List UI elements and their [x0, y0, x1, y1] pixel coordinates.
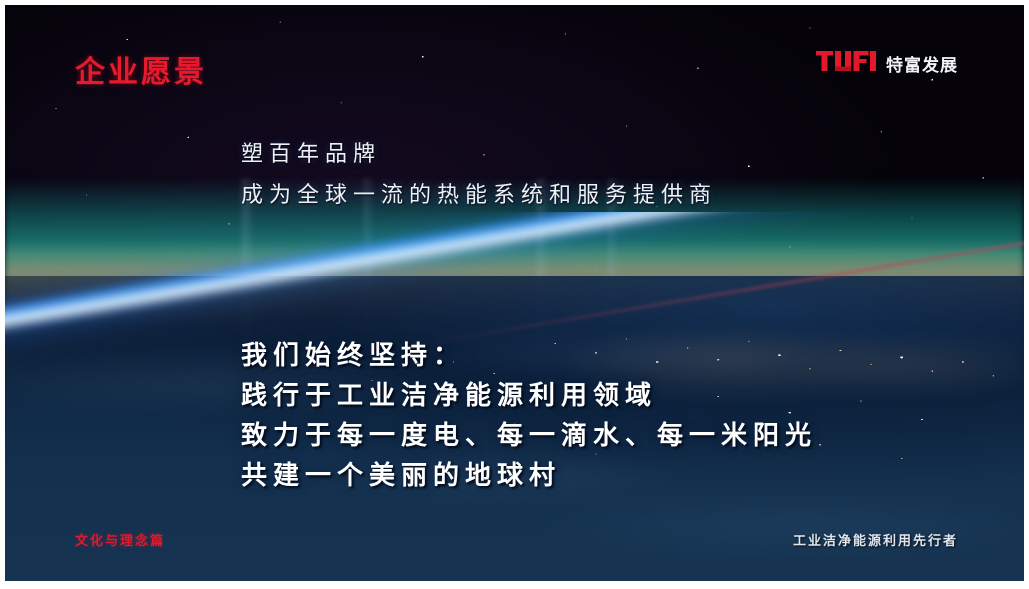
commitment-line-3: 致力于每一度电、每一滴水、每一米阳光 [241, 415, 817, 455]
commitment-line-4: 共建一个美丽的地球村 [241, 455, 817, 495]
tuff-logo-icon [816, 51, 876, 76]
commitment-line-2: 践行于工业洁净能源利用领域 [241, 375, 817, 415]
slide-content: 企业愿景 [5, 5, 1024, 581]
brand-name: 特富发展 [886, 51, 958, 76]
vision-line-2: 成为全球一流的热能系统和服务提供商 [241, 174, 717, 215]
commitment-statement: 我们始终坚持： 践行于工业洁净能源利用领域 致力于每一度电、每一滴水、每一米阳光… [241, 335, 817, 495]
footer-tagline: 工业洁净能源利用先行者 [793, 530, 958, 549]
brand-lockup: 特富发展 [816, 51, 958, 76]
presentation-slide: 企业愿景 [5, 5, 1024, 581]
vision-statement: 塑百年品牌 成为全球一流的热能系统和服务提供商 [241, 133, 717, 215]
vision-line-1: 塑百年品牌 [241, 133, 717, 174]
page-title: 企业愿景 [75, 47, 207, 91]
footer-section-label: 文化与理念篇 [75, 530, 165, 549]
commitment-line-1: 我们始终坚持： [241, 335, 817, 375]
